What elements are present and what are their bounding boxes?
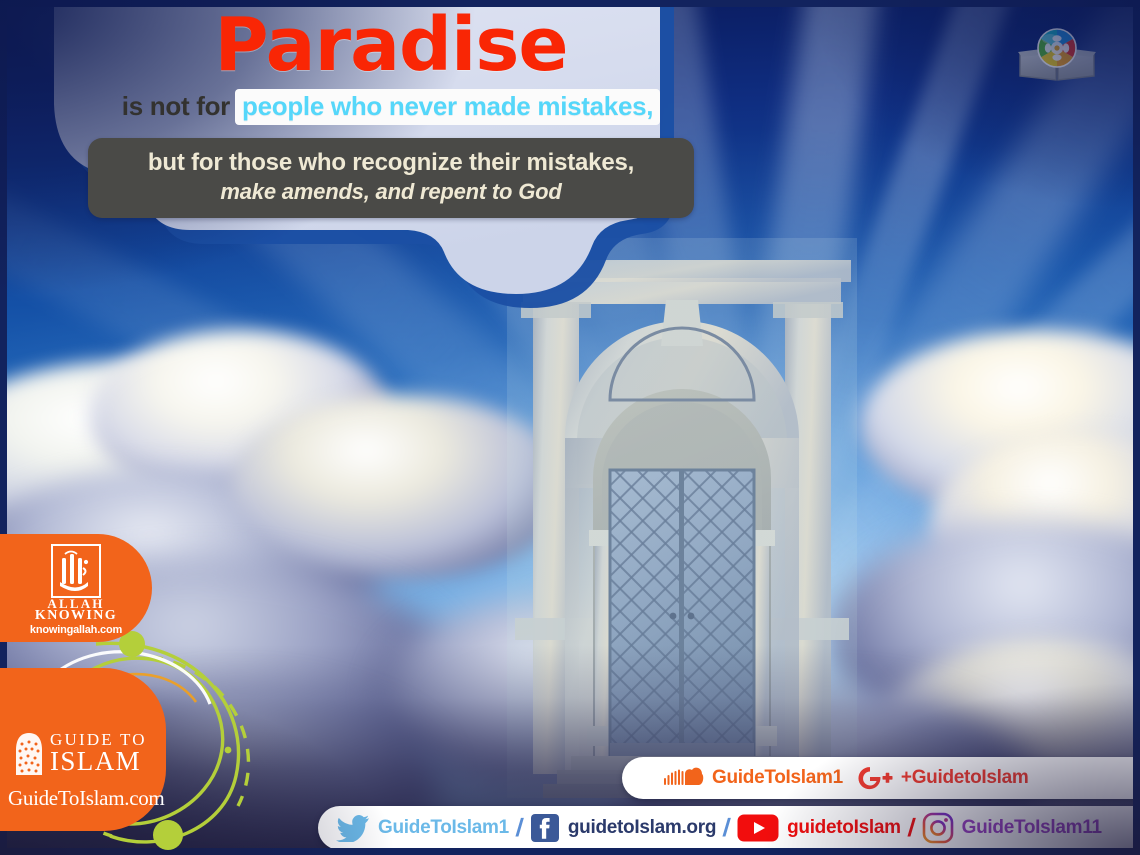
- quote-line-1: but for those who recognize their mistak…: [98, 148, 684, 177]
- instagram-handle: GuideToIslam11: [962, 817, 1102, 839]
- guidetoislam-url[interactable]: GuideToIslam.com: [8, 786, 164, 811]
- instagram-link[interactable]: GuideToIslam11: [922, 812, 1102, 844]
- facebook-icon: [530, 813, 560, 843]
- guidetoislam-globe-book-logo[interactable]: [1014, 24, 1100, 86]
- youtube-handle: guidetoIslam: [787, 817, 901, 839]
- twitter-icon: [336, 814, 370, 842]
- googleplus-link[interactable]: +GuidetoIslam: [857, 766, 1029, 790]
- instagram-icon: [922, 812, 954, 844]
- quote-line-2: make amends, and repent to God: [98, 178, 684, 207]
- knowingallah-url[interactable]: knowingallah.com: [0, 624, 152, 636]
- soundcloud-icon: [664, 767, 704, 789]
- allah-calligraphy-icon: [51, 544, 101, 598]
- bubble-text-block: Paradise is not forpeople who never made…: [66, 8, 716, 218]
- poster-canvas: Paradise is not forpeople who never made…: [0, 0, 1140, 855]
- guidetoislam-badge[interactable]: GUIDE TO ISLAM GuideToIslam.com: [0, 668, 166, 831]
- separator-2: /: [722, 814, 732, 843]
- subtitle-prefix: is not for: [122, 91, 230, 121]
- soundcloud-handle: GuideToIslam1: [712, 767, 843, 789]
- twitter-link[interactable]: GuideToIslam1: [336, 814, 509, 842]
- mosque-arch-icon: [14, 732, 44, 776]
- guidetoislam-line-2: ISLAM: [50, 748, 141, 775]
- social-bar-primary: GuideToIslam1 / guidetoIslam.org / guide…: [318, 806, 1140, 850]
- subtitle-line: is not forpeople who never made mistakes…: [66, 89, 716, 124]
- separator-1: /: [514, 814, 524, 843]
- page-title: Paradise: [66, 8, 716, 83]
- twitter-handle: GuideToIslam1: [378, 817, 509, 839]
- youtube-link[interactable]: guidetoIslam: [737, 813, 901, 843]
- subtitle-highlight: people who never made mistakes,: [235, 89, 660, 124]
- facebook-link[interactable]: guidetoIslam.org: [530, 813, 716, 843]
- knowingallah-line-2: KNOWING: [0, 608, 152, 624]
- knowingallah-badge[interactable]: ALLAH KNOWING knowingallah.com: [0, 534, 152, 642]
- quote-box: but for those who recognize their mistak…: [88, 138, 694, 219]
- youtube-icon: [737, 813, 779, 843]
- facebook-handle: guidetoIslam.org: [568, 817, 716, 839]
- separator-3: /: [906, 814, 916, 843]
- soundcloud-link[interactable]: GuideToIslam1: [664, 767, 843, 789]
- googleplus-handle: +GuidetoIslam: [901, 767, 1029, 789]
- social-bar-secondary: GuideToIslam1 +GuidetoIslam: [622, 757, 1140, 799]
- googleplus-icon: [857, 766, 893, 790]
